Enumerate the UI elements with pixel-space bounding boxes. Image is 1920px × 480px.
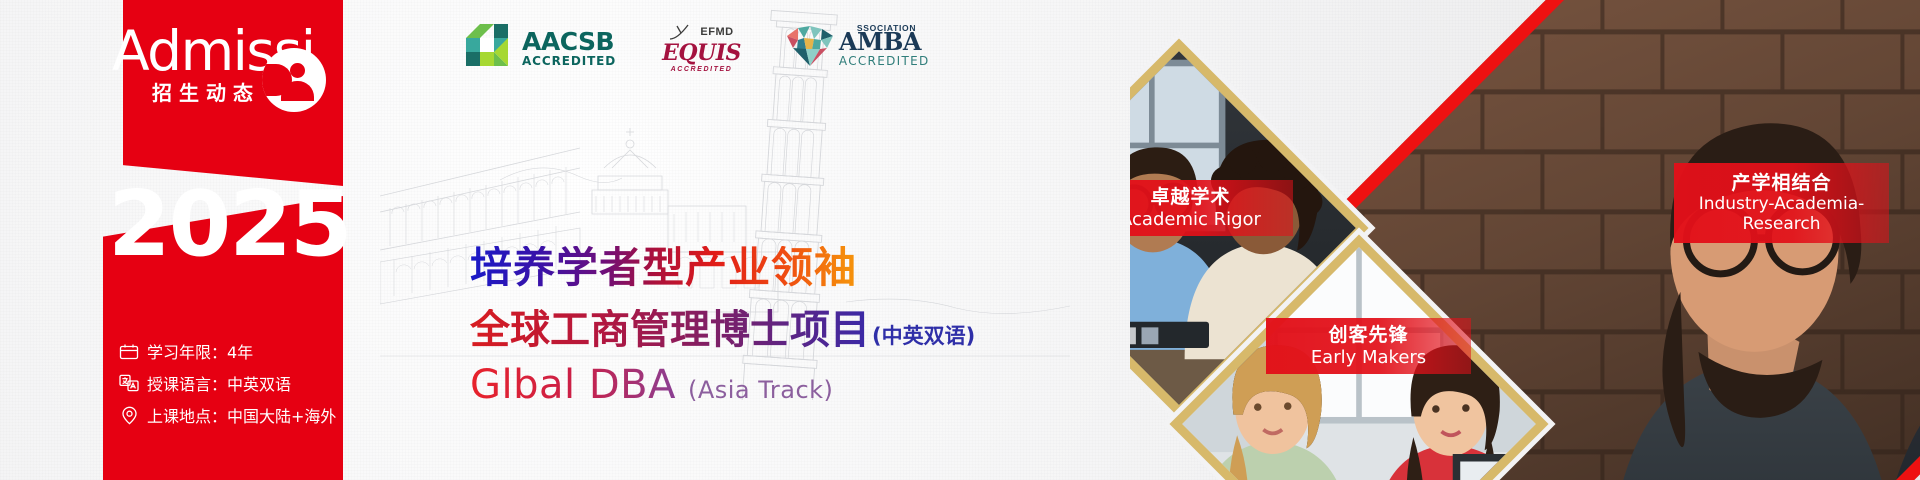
aacsb-text: AACSB ACCREDITED bbox=[522, 29, 616, 67]
aacsb-name: AACSB bbox=[522, 29, 616, 54]
amba-name: AMBA bbox=[839, 30, 930, 54]
feature-label-cn: 卓越学术 bbox=[1150, 186, 1230, 208]
location-pin-icon bbox=[118, 405, 140, 425]
equis-status: ACCREDITED bbox=[662, 66, 741, 73]
tagline: 培养学者型产业领袖 bbox=[470, 246, 975, 291]
info-text-location: 上课地点：中国大陆+海外 bbox=[147, 403, 336, 427]
calendar-icon bbox=[118, 341, 140, 361]
language-icon bbox=[118, 373, 140, 393]
amba-logo-icon bbox=[787, 24, 831, 66]
amba-text: SSOCIATION AMBA ACCREDITED bbox=[839, 24, 930, 67]
feature-label-en: Early Makers bbox=[1311, 347, 1426, 368]
program-title-en-row: Glbal DBA (Asia Track) bbox=[470, 365, 975, 405]
person-body-shape bbox=[281, 81, 314, 101]
accreditation-aacsb: AACSB ACCREDITED bbox=[466, 24, 616, 72]
person-head-shape bbox=[290, 63, 305, 78]
feature-collage: 卓越学术 Academic Rigor 产学相结合 Industry-Acade… bbox=[1130, 0, 1920, 480]
feature-label-cn: 创客先锋 bbox=[1328, 324, 1408, 346]
info-text-duration: 学习年限：4年 bbox=[147, 339, 253, 363]
efmd-swoosh-icon bbox=[669, 24, 695, 41]
feature-label-en: Academic Rigor bbox=[1130, 209, 1261, 230]
accreditation-logos: AACSB ACCREDITED EFMD EQUIS ACCREDITED bbox=[466, 24, 930, 73]
feature-label-early-makers: 创客先锋 Early Makers bbox=[1266, 318, 1471, 374]
info-row-location: 上课地点：中国大陆+海外 bbox=[118, 399, 336, 431]
feature-label-cn: 产学相结合 bbox=[1731, 172, 1831, 194]
admission-banner: Admissi 招生动态 2025 学习年限：4年 bbox=[0, 0, 1920, 480]
info-row-language: 授课语言：中英双语 bbox=[118, 367, 336, 399]
amba-status: ACCREDITED bbox=[839, 55, 930, 67]
program-title-en: Glbal DBA bbox=[470, 365, 676, 405]
program-title-cn-row: 全球工商管理博士项目 (中英双语) bbox=[470, 309, 975, 351]
aacsb-status: ACCREDITED bbox=[522, 55, 616, 67]
year-label: 2025 bbox=[108, 180, 340, 270]
equis-text: EFMD EQUIS ACCREDITED bbox=[662, 24, 741, 73]
program-title-cn: 全球工商管理博士项目 bbox=[470, 309, 870, 351]
admission-wordmark-cn: 招生动态 bbox=[152, 77, 260, 106]
feature-label-industry-academia-research: 产学相结合 Industry-Academia-Research bbox=[1674, 163, 1889, 243]
equis-name: EQUIS bbox=[662, 42, 741, 64]
feature-label-academic-rigor: 卓越学术 Academic Rigor bbox=[1130, 180, 1293, 236]
admission-logo: Admissi 招生动态 bbox=[112, 24, 352, 134]
equis-org: EFMD bbox=[700, 27, 733, 38]
program-title-en-track: (Asia Track) bbox=[688, 378, 833, 402]
person-circle-icon bbox=[262, 48, 326, 112]
info-text-language: 授课语言：中英双语 bbox=[147, 371, 291, 395]
aacsb-logo-icon bbox=[466, 24, 514, 72]
program-title-cn-paren: (中英双语) bbox=[872, 325, 975, 347]
info-row-duration: 学习年限：4年 bbox=[118, 335, 336, 367]
headline-block: 培养学者型产业领袖 全球工商管理博士项目 (中英双语) Glbal DBA (A… bbox=[470, 246, 975, 405]
program-info-list: 学习年限：4年 授课语言：中英双语 上课地点：中国大陆+海外 bbox=[118, 335, 336, 431]
accreditation-amba: SSOCIATION AMBA ACCREDITED bbox=[787, 24, 930, 67]
feature-label-en: Industry-Academia-Research bbox=[1674, 194, 1889, 234]
accreditation-equis: EFMD EQUIS ACCREDITED bbox=[662, 24, 741, 73]
